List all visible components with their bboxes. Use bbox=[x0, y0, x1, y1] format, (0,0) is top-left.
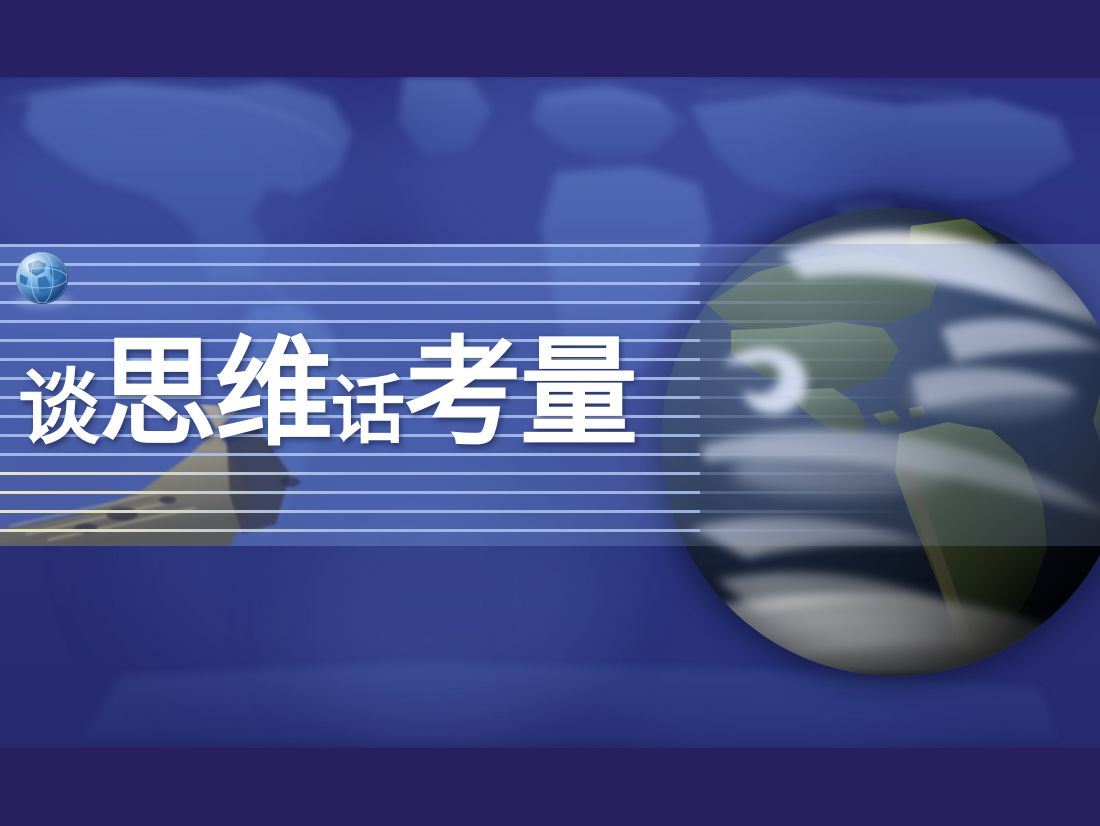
letterbox-top bbox=[0, 0, 1100, 77]
page-title: 谈 思维 话 考量 bbox=[18, 302, 718, 452]
title-part-4: 考量 bbox=[404, 334, 636, 452]
title-part-2: 思维 bbox=[99, 334, 331, 452]
title-slide: 谈 思维 话 考量 bbox=[0, 0, 1100, 826]
globe-icon-highlight bbox=[24, 258, 44, 271]
banner-stripes-right bbox=[700, 244, 1100, 546]
letterbox-bottom bbox=[0, 748, 1100, 826]
title-part-1: 谈 bbox=[18, 368, 99, 452]
banner-stripes-gold bbox=[0, 472, 560, 534]
title-part-3: 话 bbox=[331, 374, 404, 452]
